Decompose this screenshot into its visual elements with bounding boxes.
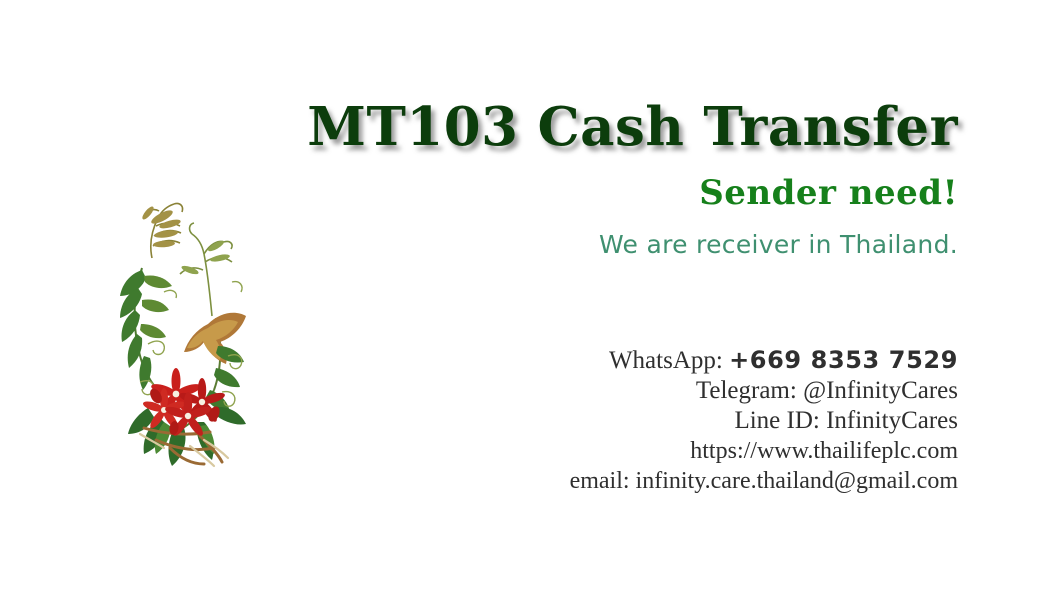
email-value[interactable]: infinity.care.thailand@gmail.com — [636, 468, 958, 494]
telegram-value[interactable]: @InfinityCares — [803, 377, 958, 404]
page-title: MT103 Cash Transfer — [280, 96, 958, 158]
line-id-label: Line ID: — [734, 407, 819, 434]
contact-row-telegram: Telegram: @InfinityCares — [280, 376, 958, 406]
email-label: email: — [570, 468, 630, 494]
contact-row-website: https://www.thailifeplc.com — [280, 436, 958, 466]
poster-canvas: MT103 Cash Transfer Sender need! We are … — [0, 0, 1063, 600]
page-tagline: We are receiver in Thailand. — [280, 228, 958, 262]
contact-block: WhatsApp: +669 8353 7529 Telegram: @Infi… — [280, 345, 958, 496]
page-subtitle: Sender need! — [280, 171, 958, 215]
contact-row-whatsapp: WhatsApp: +669 8353 7529 — [280, 345, 958, 376]
floral-garland-illustration — [104, 196, 256, 468]
contact-row-email: email: infinity.care.thailand@gmail.com — [280, 466, 958, 496]
line-id-value[interactable]: InfinityCares — [826, 407, 958, 434]
contact-row-line-id: Line ID: InfinityCares — [280, 406, 958, 436]
whatsapp-label: WhatsApp: — [609, 347, 723, 374]
telegram-label: Telegram: — [696, 377, 797, 404]
website-value[interactable]: https://www.thailifeplc.com — [690, 438, 958, 464]
whatsapp-value[interactable]: +669 8353 7529 — [729, 346, 958, 374]
text-column: MT103 Cash Transfer Sender need! We are … — [280, 96, 958, 496]
